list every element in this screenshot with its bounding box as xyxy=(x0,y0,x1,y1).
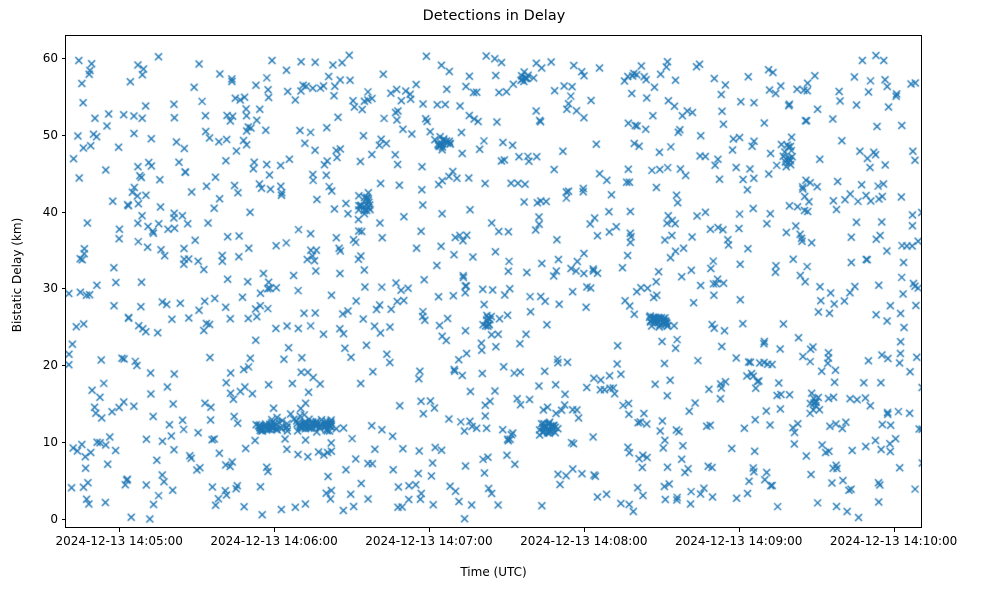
x-tick-mark xyxy=(894,528,895,532)
plot-axes-area xyxy=(65,35,922,528)
x-tick-mark xyxy=(274,528,275,532)
y-tick-label: 10 xyxy=(18,435,58,449)
y-tick-label: 20 xyxy=(18,358,58,372)
figure-canvas: Detections in Delay Bistatic Delay (km) … xyxy=(0,0,988,590)
x-tick-label: 2024-12-13 14:10:00 xyxy=(794,534,988,548)
y-tick-mark xyxy=(62,58,66,59)
y-tick-label: 30 xyxy=(18,281,58,295)
y-tick-label: 50 xyxy=(18,128,58,142)
x-tick-mark xyxy=(739,528,740,532)
y-tick-mark xyxy=(62,365,66,366)
x-axis-label: Time (UTC) xyxy=(65,565,922,579)
x-tick-mark xyxy=(429,528,430,532)
y-tick-label: 60 xyxy=(18,51,58,65)
scatter-plot-points xyxy=(66,36,922,528)
y-tick-mark xyxy=(62,288,66,289)
y-tick-mark xyxy=(62,519,66,520)
page-title: Detections in Delay xyxy=(0,8,988,24)
y-tick-mark xyxy=(62,212,66,213)
y-tick-label: 40 xyxy=(18,205,58,219)
y-tick-mark xyxy=(62,135,66,136)
x-tick-mark xyxy=(119,528,120,532)
y-tick-label: 0 xyxy=(18,512,58,526)
x-tick-mark xyxy=(584,528,585,532)
y-tick-mark xyxy=(62,442,66,443)
